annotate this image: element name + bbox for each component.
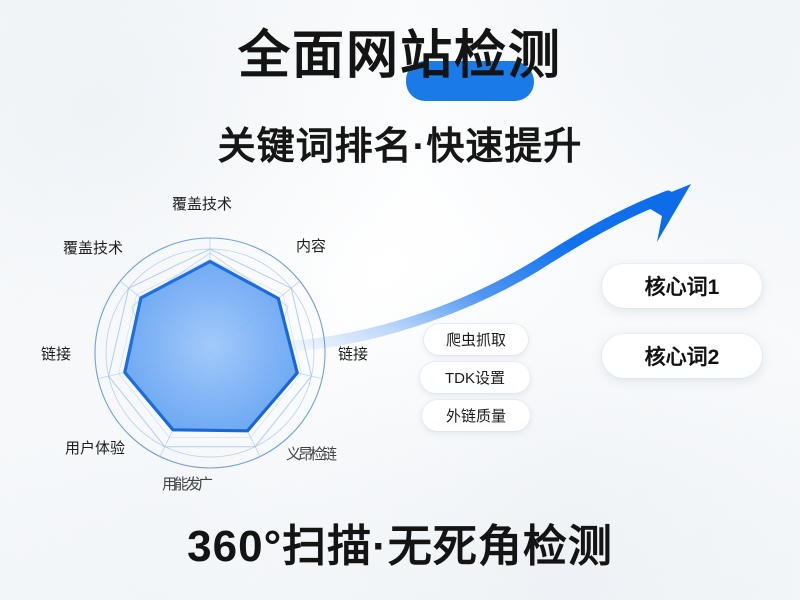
page-subtitle: 关键词排名·快速提升 [0, 115, 800, 170]
radar-data-polygon [125, 262, 297, 431]
page-title-text: 全面网站检测 [238, 27, 562, 85]
radar-label-bottom-left: 用户体验 [65, 437, 125, 458]
poster-canvas: 全面网站检测 关键词排名·快速提升 [0, 0, 800, 600]
title-block: 全面网站检测 [0, 28, 800, 84]
tag-pill-backlink[interactable]: 外链质量 [422, 400, 530, 431]
radar-label-left: 链接 [41, 343, 71, 364]
radar-label-top: 覆盖技术 [172, 193, 232, 214]
page-footer-title: 360°扫描·无死角检测 [0, 510, 800, 574]
radar-label-bottom-right: 义昂检链 [286, 443, 334, 464]
keyword-card-2[interactable]: 核心词2 [602, 334, 762, 378]
radar-chart: 覆盖技术 内容 链接 义昂检链 用能发广 用户体验 链接 覆盖技术 [50, 195, 380, 515]
radar-label-top-right: 内容 [296, 235, 326, 256]
tag-pill-crawl[interactable]: 爬虫抓取 [424, 324, 528, 355]
arrow-head-icon [642, 184, 691, 242]
radar-label-right: 链接 [338, 343, 368, 364]
keyword-card-1[interactable]: 核心词1 [602, 264, 762, 308]
radar-label-bottom: 用能发广 [162, 473, 210, 494]
radar-label-top-left: 覆盖技术 [63, 237, 123, 258]
tag-pill-tdk[interactable]: TDK设置 [420, 362, 530, 393]
page-title: 全面网站检测 [238, 28, 562, 84]
